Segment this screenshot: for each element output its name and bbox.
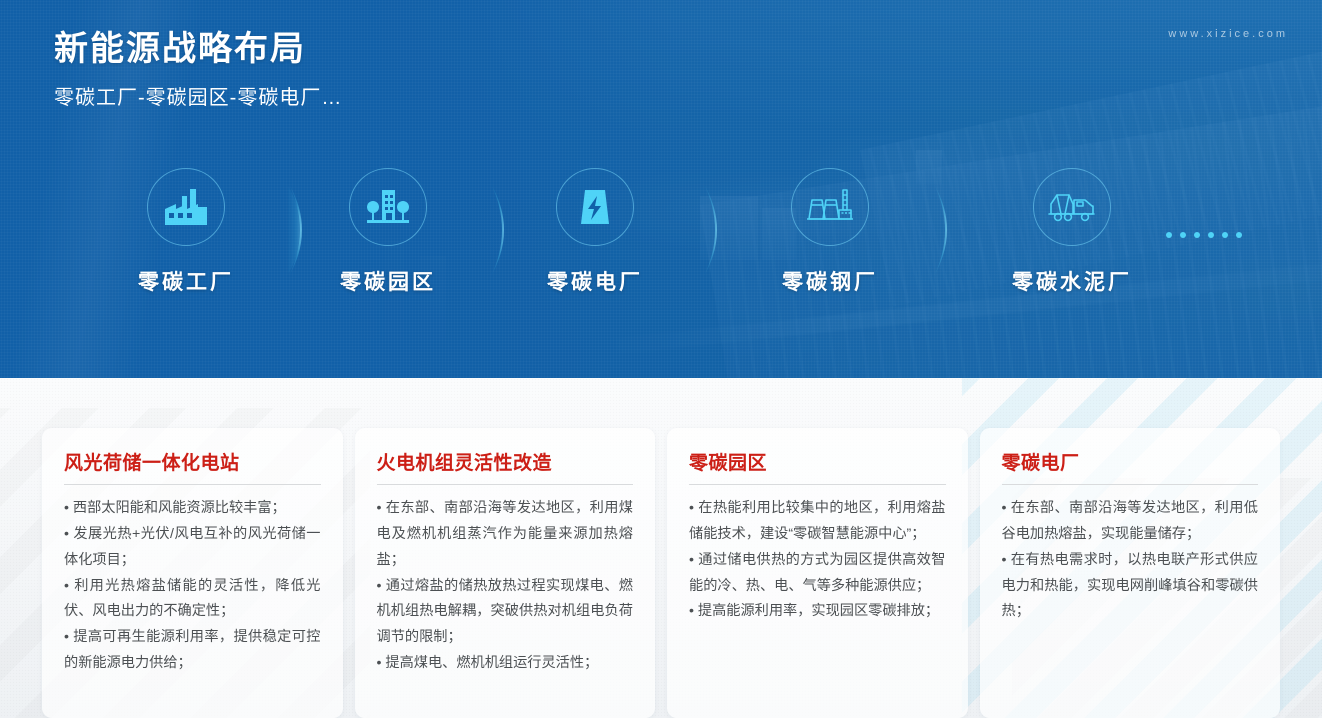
- card-thermal-unit-flexibility[interactable]: 火电机组灵活性改造 • 在东部、南部沿海等发达地区，利用煤电及燃机机组蒸汽作为能…: [355, 428, 656, 718]
- card-body: • 在东部、南部沿海等发达地区，利用煤电及燃机机组蒸汽作为能量来源加热熔盐； •…: [377, 496, 634, 677]
- factory-icon: [163, 187, 209, 227]
- process-flow: 零碳工厂: [0, 168, 1322, 318]
- dot: [1208, 232, 1214, 238]
- flow-step-label: 零碳园区: [313, 266, 463, 296]
- card-bullet: • 在东部、南部沿海等发达地区，利用低谷电加热熔盐，实现能量储存；: [1002, 496, 1259, 548]
- flow-step-zero-carbon-power-plant[interactable]: 零碳电厂: [520, 168, 670, 296]
- card-body: • 在东部、南部沿海等发达地区，利用低谷电加热熔盐，实现能量储存； • 在有热电…: [1002, 496, 1259, 625]
- flow-step-label: 零碳电厂: [520, 266, 670, 296]
- step-circle: [556, 168, 634, 246]
- card-bullet: • 发展光热+光伏/风电互补的风光荷储一体化项目；: [64, 522, 321, 574]
- card-title: 火电机组灵活性改造: [377, 448, 634, 485]
- card-bullet: • 西部太阳能和风能资源比较丰富；: [64, 496, 321, 522]
- card-body: • 西部太阳能和风能资源比较丰富； • 发展光热+光伏/风电互补的风光荷储一体化…: [64, 496, 321, 677]
- card-title: 零碳园区: [689, 448, 946, 485]
- page-title: 新能源战略布局: [54, 28, 342, 71]
- hero-text-block: 新能源战略布局 零碳工厂-零碳园区-零碳电厂…: [54, 28, 342, 110]
- power-plant-icon: [574, 187, 616, 227]
- dot: [1236, 232, 1242, 238]
- chevron-right-icon: [700, 182, 744, 278]
- dot: [1180, 232, 1186, 238]
- card-bullet: • 提高能源利用率，实现园区零碳排放；: [689, 599, 946, 625]
- industrial-park-icon: [365, 187, 411, 227]
- card-title: 风光荷储一体化电站: [64, 448, 321, 485]
- card-bullet: • 在热能利用比较集中的地区，利用熔盐储能技术，建设“零碳智慧能源中心”；: [689, 496, 946, 548]
- card-bullet: • 通过储电供热的方式为园区提供高效智能的冷、热、电、气等多种能源供应；: [689, 548, 946, 600]
- flow-step-zero-carbon-steel-plant[interactable]: 零碳钢厂: [755, 168, 905, 296]
- flow-step-zero-carbon-factory[interactable]: 零碳工厂: [111, 168, 261, 296]
- dot: [1222, 232, 1228, 238]
- card-zero-carbon-park[interactable]: 零碳园区 • 在热能利用比较集中的地区，利用熔盐储能技术，建设“零碳智慧能源中心…: [667, 428, 968, 718]
- card-list: 风光荷储一体化电站 • 西部太阳能和风能资源比较丰富； • 发展光热+光伏/风电…: [0, 378, 1322, 718]
- step-circle: [1033, 168, 1111, 246]
- card-body: • 在热能利用比较集中的地区，利用熔盐储能技术，建设“零碳智慧能源中心”； • …: [689, 496, 946, 625]
- steel-plant-icon: [806, 186, 854, 228]
- step-circle: [147, 168, 225, 246]
- slide-root: 新能源战略布局 零碳工厂-零碳园区-零碳电厂… www.xizice.com: [0, 0, 1322, 718]
- card-bullet: • 通过熔盐的储热放热过程实现煤电、燃机机组热电解耦，突破供热对机组电负荷调节的…: [377, 574, 634, 652]
- card-renewable-storage-station[interactable]: 风光荷储一体化电站 • 西部太阳能和风能资源比较丰富； • 发展光热+光伏/风电…: [42, 428, 343, 718]
- detail-section: 风光荷储一体化电站 • 西部太阳能和风能资源比较丰富； • 发展光热+光伏/风电…: [0, 378, 1322, 718]
- page-subtitle: 零碳工厂-零碳园区-零碳电厂…: [54, 81, 342, 110]
- card-bullet: • 在东部、南部沿海等发达地区，利用煤电及燃机机组蒸汽作为能量来源加热熔盐；: [377, 496, 634, 574]
- chevron-right-icon: [930, 182, 974, 278]
- card-bullet: • 利用光热熔盐储能的灵活性，降低光伏、风电出力的不确定性；: [64, 574, 321, 626]
- card-bullet: • 提高可再生能源利用率，提供稳定可控的新能源电力供给；: [64, 625, 321, 677]
- card-bullet: • 提高煤电、燃机机组运行灵活性；: [377, 651, 634, 677]
- flow-step-label: 零碳水泥厂: [997, 266, 1147, 296]
- flow-step-label: 零碳工厂: [111, 266, 261, 296]
- cement-mixer-icon: [1047, 188, 1097, 226]
- dot: [1166, 232, 1172, 238]
- watermark-url: www.xizice.com: [1168, 28, 1288, 40]
- more-steps-dots: [1166, 232, 1242, 238]
- card-zero-carbon-power-plant[interactable]: 零碳电厂 • 在东部、南部沿海等发达地区，利用低谷电加热熔盐，实现能量储存； •…: [980, 428, 1281, 718]
- step-circle: [791, 168, 869, 246]
- card-bullet: • 在有热电需求时，以热电联产形式供应电力和热能，实现电网削峰填谷和零碳供热；: [1002, 548, 1259, 626]
- flow-step-label: 零碳钢厂: [755, 266, 905, 296]
- flow-step-zero-carbon-park[interactable]: 零碳园区: [313, 168, 463, 296]
- dot: [1194, 232, 1200, 238]
- flow-step-zero-carbon-cement-plant[interactable]: 零碳水泥厂: [997, 168, 1147, 296]
- hero-banner: 新能源战略布局 零碳工厂-零碳园区-零碳电厂… www.xizice.com: [0, 0, 1322, 378]
- card-title: 零碳电厂: [1002, 448, 1259, 485]
- step-circle: [349, 168, 427, 246]
